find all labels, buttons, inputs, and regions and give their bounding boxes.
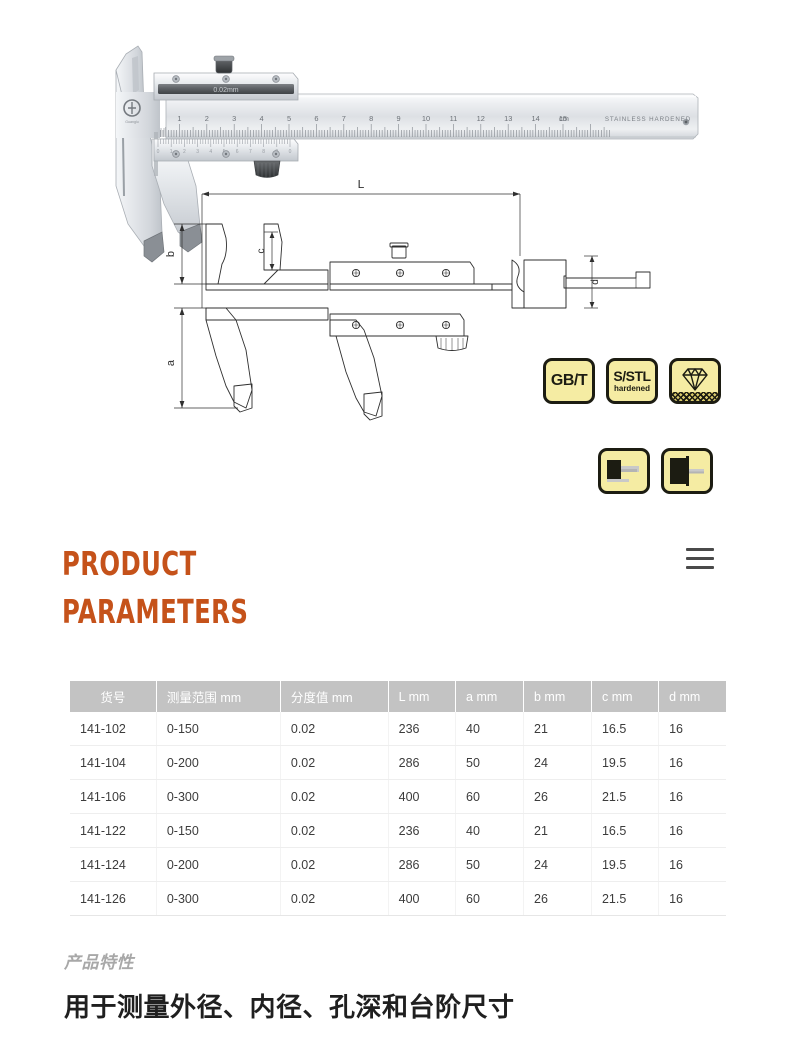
vernier-number-4: 4 [209, 149, 212, 155]
table-row: 141-1220-1500.02236402116.516 [70, 814, 726, 848]
product-hero-section: 0123456789101112131415 cm STAINLESS HARD… [0, 0, 790, 528]
cell-d: 16 [659, 848, 726, 882]
dimension-label-b: b [165, 251, 177, 257]
cell-b: 21 [524, 814, 592, 848]
column-header-L: L mm [388, 681, 455, 712]
cell-L: 286 [388, 848, 455, 882]
cell-graduation: 0.02 [280, 814, 388, 848]
cell-d: 16 [659, 780, 726, 814]
cell-b: 26 [524, 882, 592, 916]
cell-d: 16 [659, 746, 726, 780]
column-header-c: c mm [591, 681, 658, 712]
cell-part-number: 141-104 [70, 746, 156, 780]
cell-part-number: 141-106 [70, 780, 156, 814]
dimension-label-a: a [165, 359, 177, 366]
measurement-type-badge-row [598, 448, 713, 494]
table-row: 141-1260-3000.02400602621.516 [70, 882, 726, 916]
cell-graduation: 0.02 [280, 848, 388, 882]
scale-number-2: 2 [205, 114, 209, 123]
product-feature-section: 产品特性 用于测量外径、内径、孔深和台阶尺寸 [64, 948, 754, 1024]
column-header-b: b mm [524, 681, 592, 712]
cell-part-number: 141-124 [70, 848, 156, 882]
cell-graduation: 0.02 [280, 712, 388, 746]
cell-d: 16 [659, 712, 726, 746]
scale-number-3: 3 [232, 114, 236, 123]
vernier-number-2: 2 [183, 149, 186, 155]
cell-b: 24 [524, 848, 592, 882]
vernier-number-0: 0 [157, 149, 160, 155]
cell-L: 236 [388, 814, 455, 848]
menu-icon-bar-3 [686, 566, 714, 569]
dimension-label-c: c [256, 249, 267, 254]
vernier-number-6: 6 [236, 149, 239, 155]
table-row: 141-1060-3000.02400602621.516 [70, 780, 726, 814]
column-header-a: a mm [456, 681, 524, 712]
external-measurement-badge [598, 448, 650, 494]
gbt-standard-badge: GB/T [543, 358, 595, 404]
stl-badge-sublabel: hardened [614, 385, 650, 393]
scale-unit-label: cm [559, 114, 569, 123]
scale-number-14: 14 [531, 114, 539, 123]
cell-graduation: 0.02 [280, 882, 388, 916]
column-header-part-number: 货号 [70, 681, 156, 712]
gbt-badge-label: GB/T [551, 373, 587, 389]
cell-graduation: 0.02 [280, 780, 388, 814]
vernier-number-8: 8 [262, 149, 265, 155]
parameters-table-container: 货号 测量范围 mm 分度值 mm L mm a mm b mm c mm d … [70, 681, 726, 916]
precision-marking-label: 0.02mm [213, 87, 238, 94]
cell-measuring-range: 0-150 [156, 712, 280, 746]
cell-c: 16.5 [591, 712, 658, 746]
material-marking-label: STAINLESS HARDENED [605, 116, 691, 123]
cell-measuring-range: 0-200 [156, 746, 280, 780]
feature-label: 产品特性 [64, 948, 754, 973]
cell-L: 236 [388, 712, 455, 746]
scale-number-1: 1 [177, 114, 181, 123]
cell-part-number: 141-102 [70, 712, 156, 746]
cell-measuring-range: 0-300 [156, 780, 280, 814]
external-measure-icon [601, 451, 647, 491]
page-title: PRODUCT PARAMETERS [62, 540, 620, 636]
cell-b: 26 [524, 780, 592, 814]
stl-badge-label: S/STL [613, 369, 650, 383]
feature-description: 用于测量外径、内径、孔深和台阶尺寸 [64, 987, 754, 1024]
cell-c: 16.5 [591, 814, 658, 848]
column-header-d: d mm [659, 681, 726, 712]
scale-number-6: 6 [314, 114, 318, 123]
table-row: 141-1240-2000.02286502419.516 [70, 848, 726, 882]
hamburger-menu-icon[interactable] [686, 548, 714, 570]
cell-d: 16 [659, 814, 726, 848]
cell-d: 16 [659, 882, 726, 916]
scale-number-10: 10 [422, 114, 430, 123]
cell-c: 19.5 [591, 746, 658, 780]
scale-number-13: 13 [504, 114, 512, 123]
cell-c: 21.5 [591, 780, 658, 814]
scale-number-7: 7 [342, 114, 346, 123]
table-row: 141-1040-2000.02286502419.516 [70, 746, 726, 780]
svg-text:Guanglu: Guanglu [125, 120, 139, 124]
table-header: 货号 测量范围 mm 分度值 mm L mm a mm b mm c mm d … [70, 681, 726, 712]
cell-c: 19.5 [591, 848, 658, 882]
product-parameters-header: PRODUCT PARAMETERS [62, 540, 742, 636]
cell-L: 400 [388, 882, 455, 916]
cell-a: 60 [456, 780, 524, 814]
table-body: 141-1020-1500.02236402116.516141-1040-20… [70, 712, 726, 916]
vernier-number-7: 7 [249, 149, 252, 155]
diamond-badge-hatch-strip [672, 392, 718, 401]
scale-number-5: 5 [287, 114, 291, 123]
scale-number-4: 4 [260, 114, 264, 123]
cell-graduation: 0.02 [280, 746, 388, 780]
cell-c: 21.5 [591, 882, 658, 916]
cell-measuring-range: 0-200 [156, 848, 280, 882]
cell-measuring-range: 0-300 [156, 882, 280, 916]
dimension-label-L: L [358, 180, 365, 191]
cell-part-number: 141-122 [70, 814, 156, 848]
stainless-hardened-badge: S/STL hardened [606, 358, 658, 404]
dimension-label-d: d [590, 279, 601, 285]
step-measure-icon [664, 451, 710, 491]
scale-number-8: 8 [369, 114, 373, 123]
parameters-table: 货号 测量范围 mm 分度值 mm L mm a mm b mm c mm d … [70, 681, 726, 916]
cell-L: 286 [388, 746, 455, 780]
menu-icon-bar-1 [686, 548, 714, 551]
table-row: 141-1020-1500.02236402116.516 [70, 712, 726, 746]
cell-b: 21 [524, 712, 592, 746]
cell-L: 400 [388, 780, 455, 814]
certification-badge-row: GB/T S/STL hardened [543, 358, 721, 404]
diamond-icon [680, 367, 710, 395]
scale-number-11: 11 [450, 114, 458, 123]
column-header-graduation: 分度值 mm [280, 681, 388, 712]
vernier-number-3: 3 [196, 149, 199, 155]
cell-part-number: 141-126 [70, 882, 156, 916]
cell-a: 40 [456, 814, 524, 848]
diamond-lapped-badge [669, 358, 721, 404]
table-header-row: 货号 测量范围 mm 分度值 mm L mm a mm b mm c mm d … [70, 681, 726, 712]
step-measurement-badge [661, 448, 713, 494]
menu-icon-bar-2 [686, 557, 714, 560]
scale-number-9: 9 [397, 114, 401, 123]
column-header-measuring-range: 测量范围 mm [156, 681, 280, 712]
cell-measuring-range: 0-150 [156, 814, 280, 848]
cell-a: 50 [456, 746, 524, 780]
cell-a: 40 [456, 712, 524, 746]
cell-a: 60 [456, 882, 524, 916]
cell-b: 24 [524, 746, 592, 780]
vernier-number-10: 0 [289, 149, 292, 155]
cell-a: 50 [456, 848, 524, 882]
scale-number-12: 12 [477, 114, 485, 123]
